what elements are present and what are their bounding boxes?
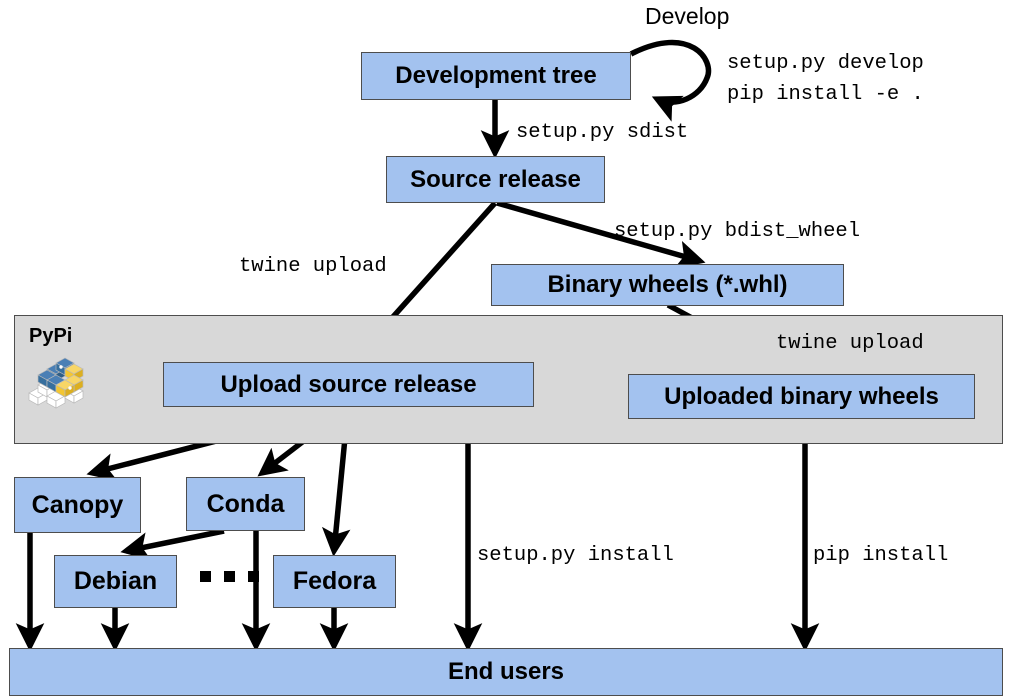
node-binary-wheels-label: Binary wheels (*.whl) [547, 271, 787, 299]
edge-conda-to-debian [126, 531, 224, 551]
label-pip-install-editable: pip install -e . [727, 83, 924, 106]
node-debian-label: Debian [74, 567, 157, 596]
node-development-tree-label: Development tree [395, 62, 596, 90]
label-develop: Develop [645, 3, 729, 30]
node-conda[interactable]: Conda [186, 477, 305, 531]
label-twine-upload-source: twine upload [239, 255, 387, 278]
edge-develop-loop [631, 42, 708, 102]
node-binary-wheels[interactable]: Binary wheels (*.whl) [491, 264, 844, 306]
node-fedora-label: Fedora [293, 567, 376, 596]
label-twine-upload-wheels: twine upload [776, 332, 924, 355]
label-setup-py-bdist-wheel: setup.py bdist_wheel [614, 220, 860, 243]
ellipsis-dot [248, 571, 259, 582]
node-conda-label: Conda [207, 490, 285, 519]
node-upload-source-release-label: Upload source release [220, 371, 476, 399]
node-development-tree[interactable]: Development tree [361, 52, 631, 100]
node-canopy[interactable]: Canopy [14, 477, 141, 533]
node-uploaded-binary-wheels-label: Uploaded binary wheels [664, 383, 939, 411]
label-setup-py-sdist: setup.py sdist [516, 121, 688, 144]
node-fedora[interactable]: Fedora [273, 555, 396, 608]
ellipsis-dot [224, 571, 235, 582]
label-pip-install: pip install [813, 544, 948, 567]
ellipsis-dot [200, 571, 211, 582]
node-debian[interactable]: Debian [54, 555, 177, 608]
ellipsis-dots [200, 571, 259, 582]
node-end-users-label: End users [448, 658, 564, 686]
diagram-canvas: PyPi [0, 0, 1009, 698]
node-source-release[interactable]: Source release [386, 156, 605, 203]
node-canopy-label: Canopy [32, 491, 124, 520]
label-setup-py-develop: setup.py develop [727, 52, 924, 75]
python-blocks-logo [26, 352, 90, 410]
node-end-users[interactable]: End users [9, 648, 1003, 696]
label-setup-py-install: setup.py install [477, 544, 674, 567]
node-uploaded-binary-wheels[interactable]: Uploaded binary wheels [628, 374, 975, 419]
pypi-panel-title: PyPi [29, 325, 72, 348]
node-upload-source-release[interactable]: Upload source release [163, 362, 534, 407]
node-source-release-label: Source release [410, 166, 581, 194]
